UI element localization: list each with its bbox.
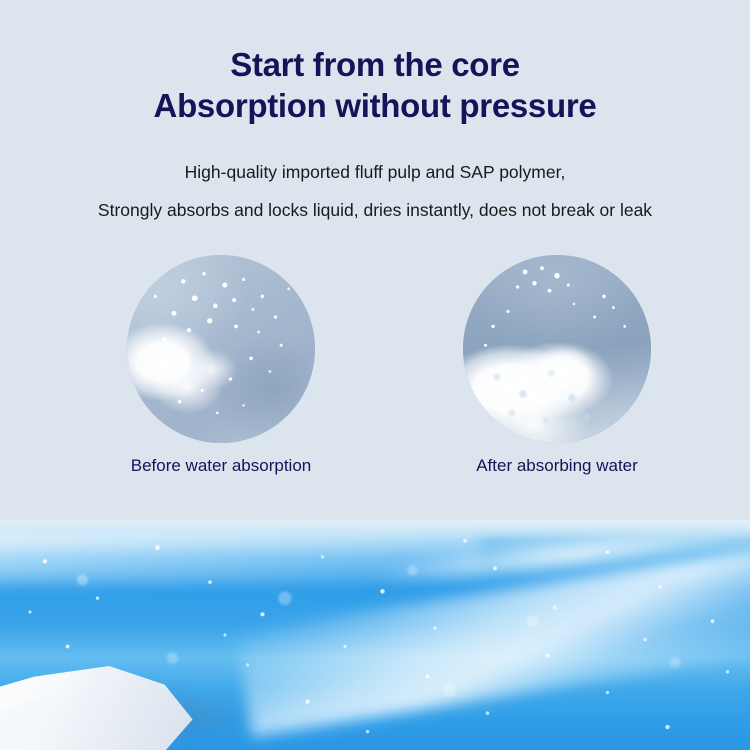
swollen-sap-gel-photo	[463, 255, 651, 443]
product-feature-page: Start from the core Absorption without p…	[0, 0, 750, 750]
page-headline: Start from the core Absorption without p…	[0, 44, 750, 126]
headline-line-2: Absorption without pressure	[0, 85, 750, 126]
photo-top-fade	[0, 520, 750, 540]
comparison-row: Before water absorption After absorbing …	[0, 255, 750, 445]
swollen-gel-texture	[463, 349, 651, 443]
headline-line-1: Start from the core	[0, 44, 750, 85]
caption-before-water-absorption: Before water absorption	[111, 455, 331, 477]
subheadline-line-1: High-quality imported fluff pulp and SAP…	[0, 153, 750, 191]
subheadline-line-2: Strongly absorbs and locks liquid, dries…	[0, 191, 750, 229]
blue-absorbent-gel-core-photo	[0, 520, 750, 750]
comparison-item-before: Before water absorption	[127, 255, 315, 443]
info-section: Start from the core Absorption without p…	[0, 0, 750, 522]
dry-sap-powder-photo	[127, 255, 315, 443]
caption-after-absorbing-water: After absorbing water	[453, 455, 661, 477]
dry-powder-clump-secondary	[180, 341, 244, 397]
page-subheadline: High-quality imported fluff pulp and SAP…	[0, 153, 750, 229]
comparison-item-after: After absorbing water	[463, 255, 651, 443]
